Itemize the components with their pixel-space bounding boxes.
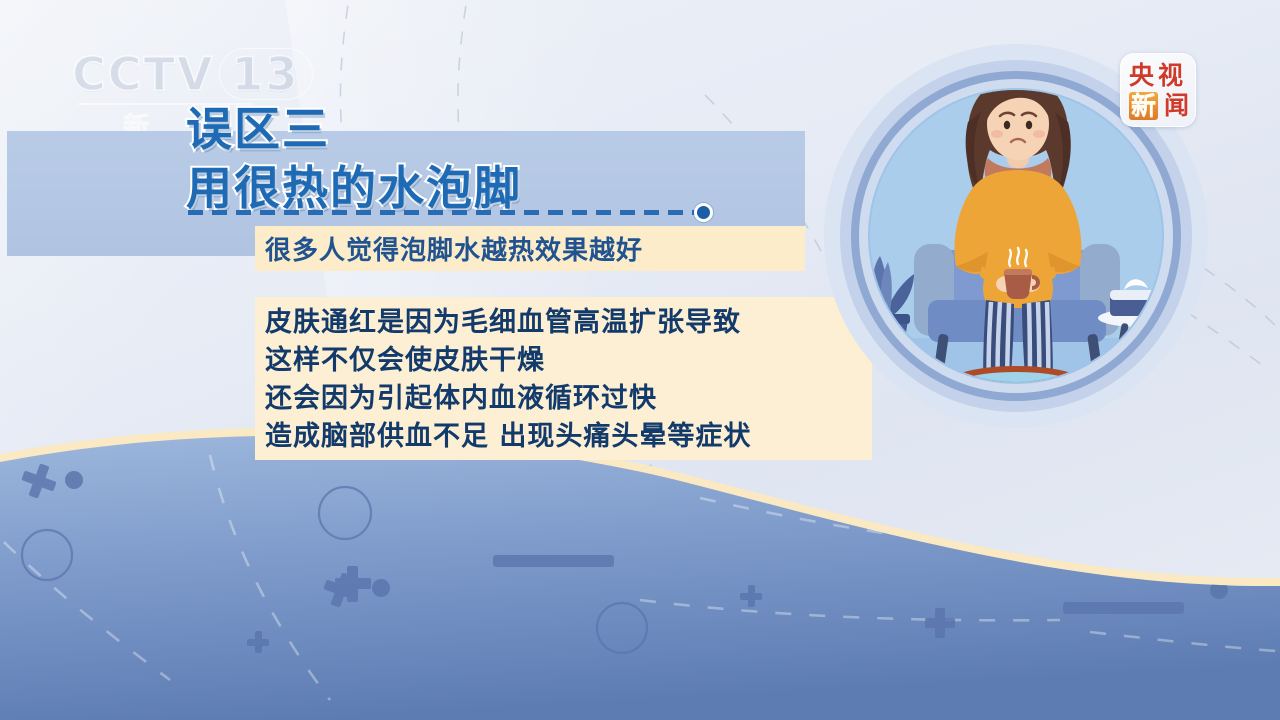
badge-char-xin: 新 [1129,92,1158,120]
broadcast-graphic-stage: CCTV13 新 闻 误区三 用很热的水泡脚 很多人觉得泡脚水越热效果越好 皮肤… [0,0,1280,720]
headline-line-1: 误区三 [186,106,826,152]
body-text-line: 这样不仅会使皮肤干燥 [265,342,872,380]
subtitle-text: 很多人觉得泡脚水越热效果越好 [265,230,643,267]
body-text-line: 还会因为引起体内血液循环过快 [265,380,872,418]
subtitle-box: 很多人觉得泡脚水越热效果越好 [255,226,805,271]
body-text-line: 皮肤通红是因为毛细血管高温扩张导致 [265,304,872,342]
headline-block: 误区三 用很热的水泡脚 [186,106,826,211]
badge-char-wen: 闻 [1164,92,1189,120]
badge-char-yang: 央 [1129,62,1154,90]
body-text-line: 造成脑部供血不足 出现头痛头晕等症状 [265,418,872,456]
cctv-news-badge-row-2: 新 闻 [1129,91,1189,121]
badge-char-shi: 视 [1158,62,1183,90]
cctv-logo-number: 13 [219,48,313,100]
headline-dashed-underline [188,210,700,215]
headline-end-dot [694,203,713,222]
body-text-box: 皮肤通红是因为毛细血管高温扩张导致 这样不仅会使皮肤干燥 还会因为引起体内血液循… [255,297,872,460]
cctv-logo-line1: CCTV13 [72,48,282,100]
headline-line-2: 用很热的水泡脚 [186,165,826,211]
cctv-news-badge: 央 视 新 闻 [1120,53,1196,127]
cctv-news-badge-row-1: 央 视 [1129,61,1189,91]
cctv-logo-text: CCTV [72,47,215,101]
